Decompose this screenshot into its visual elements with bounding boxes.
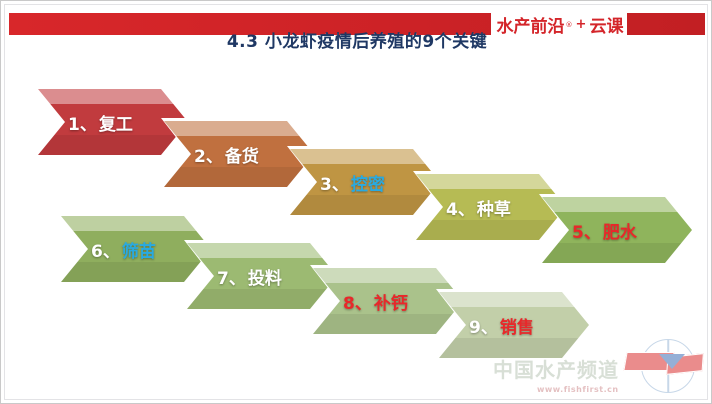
flow-step-6[interactable]: 6、筛苗 <box>61 216 211 282</box>
flow-step-4[interactable]: 4、种草 <box>416 174 566 240</box>
flow-step-2-number: 2、 <box>194 147 223 167</box>
flow-step-3-text: 控密 <box>351 175 385 195</box>
flow-step-8-number: 8、 <box>343 294 372 314</box>
flow-step-3-number: 3、 <box>320 175 349 195</box>
flow-step-2[interactable]: 2、备货 <box>164 121 314 187</box>
flow-step-5-number: 5、 <box>572 223 601 243</box>
checkmark-icon <box>659 354 685 369</box>
flow-step-7[interactable]: 7、投料 <box>187 243 337 309</box>
flow-step-4-text: 种草 <box>477 200 511 220</box>
flow-step-6-text: 筛苗 <box>122 242 156 262</box>
watermark-url: www.fishfirst.cn <box>537 385 619 394</box>
flow-step-2-label: 2、备货 <box>164 142 314 167</box>
flow-step-5-label: 5、肥水 <box>542 218 692 243</box>
flow-step-9-text: 销售 <box>500 318 534 338</box>
flow-step-9-number: 9、 <box>469 318 498 338</box>
flow-step-1-text: 复工 <box>99 115 133 135</box>
flow-step-3[interactable]: 3、控密 <box>290 149 440 215</box>
flow-step-4-number: 4、 <box>446 200 475 220</box>
flow-step-2-text: 备货 <box>225 147 259 167</box>
flow-step-5[interactable]: 5、肥水 <box>542 197 692 263</box>
watermark-text: 中国水产频道 <box>493 354 619 383</box>
flow-step-6-number: 6、 <box>91 242 120 262</box>
flow-step-7-number: 7、 <box>217 269 246 289</box>
watermark: 中国水产频道 www.fishfirst.cn <box>493 341 699 397</box>
flow-step-9-label: 9、销售 <box>439 313 589 338</box>
flow-step-7-text: 投料 <box>248 269 282 289</box>
presentation-slide: 水产前沿®+云课 4.3 小龙虾疫情后养殖的9个关键 1、复工 2、备货 3、控… <box>0 0 712 404</box>
flow-step-8-text: 补钙 <box>374 294 408 314</box>
flow-step-1-number: 1、 <box>68 115 97 135</box>
flow-step-8[interactable]: 8、补钙 <box>313 268 463 334</box>
flow-step-5-text: 肥水 <box>603 223 637 243</box>
